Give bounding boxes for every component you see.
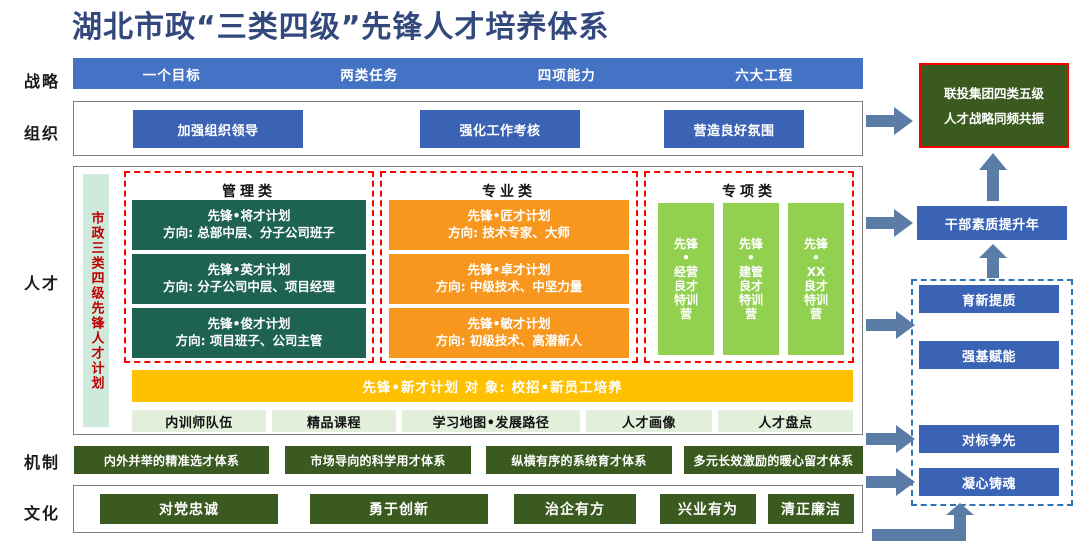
mechanism-item-0[interactable]: 内外并举的精准选才体系	[74, 446, 269, 474]
talent-plan-mincai[interactable]: 先锋•敏才计划 方向: 初级技术、高潜新人	[389, 308, 629, 358]
right-middle-box[interactable]: 干部素质提升年	[917, 206, 1067, 240]
organization-item-2[interactable]: 营造良好氛围	[664, 110, 804, 148]
row-label-strategy: 战略	[16, 68, 68, 92]
support-item-2[interactable]: 学习地图•发展路径	[402, 410, 580, 432]
organization-item-1[interactable]: 强化工作考核	[420, 110, 580, 148]
right-bottom-item-1[interactable]: 强基赋能	[919, 341, 1059, 369]
culture-item-1[interactable]: 勇于创新	[310, 494, 488, 524]
arrow-right-to-yuxintizhi	[866, 310, 916, 340]
culture-item-0[interactable]: 对党忠诚	[100, 494, 278, 524]
plan-name: 先锋•匠才计划	[468, 208, 551, 225]
arrow-right-to-ningxinzhuhun	[866, 467, 916, 497]
talent-group-special-title: 专项类	[644, 181, 854, 201]
mechanism-item-3[interactable]: 多元长效激励的暖心留才体系	[684, 446, 863, 474]
culture-item-2[interactable]: 治企有方	[514, 494, 636, 524]
arrow-up-bottom-to-middle	[978, 243, 1008, 279]
support-item-4[interactable]: 人才盘点	[718, 410, 853, 432]
mechanism-item-2[interactable]: 纵横有序的系统育才体系	[486, 446, 672, 474]
talent-group-professional-title: 专业类	[380, 181, 638, 201]
plan-name: 先锋•敏才计划	[468, 316, 551, 333]
arrow-up-culture-to-bottom-group	[872, 503, 1002, 543]
right-bottom-item-2[interactable]: 对标争先	[919, 425, 1059, 453]
talent-plan-jiangcai2[interactable]: 先锋•匠才计划 方向: 技术专家、大师	[389, 200, 629, 250]
strategy-item-2[interactable]: 四项能力	[468, 64, 666, 84]
new-talent-plan-bar[interactable]: 先锋•新才计划 对 象: 校招•新员工培养	[132, 370, 853, 402]
row-label-organization: 组织	[16, 120, 68, 144]
camp-label: 先锋 • XX 良才 特训 营	[788, 237, 844, 322]
arrow-up-middle-to-top	[978, 152, 1008, 202]
strategy-item-1[interactable]: 两类任务	[271, 64, 469, 84]
camp-label: 先锋 • 建管 良才 特训 营	[723, 237, 779, 322]
right-top-line2: 人才战略同频共振	[944, 106, 1044, 131]
plan-direction: 方向: 中级技术、中坚力量	[436, 279, 583, 296]
plan-direction: 方向: 项目班子、公司主管	[176, 333, 323, 350]
organization-item-0[interactable]: 加强组织领导	[133, 110, 303, 148]
talent-camp-jianguan[interactable]: 先锋 • 建管 良才 特训 营	[723, 203, 779, 355]
plan-direction: 方向: 分子公司中层、项目经理	[163, 279, 335, 296]
talent-plan-juncai[interactable]: 先锋•俊才计划 方向: 项目班子、公司主管	[132, 308, 366, 358]
mechanism-item-1[interactable]: 市场导向的科学用才体系	[285, 446, 471, 474]
support-item-3[interactable]: 人才画像	[586, 410, 712, 432]
row-label-talent: 人才	[16, 270, 68, 294]
strategy-bar: 一个目标 两类任务 四项能力 六大工程	[73, 58, 863, 89]
talent-plan-jiangcai[interactable]: 先锋•将才计划 方向: 总部中层、分子公司班子	[132, 200, 366, 250]
right-bottom-item-0[interactable]: 育新提质	[919, 285, 1059, 313]
right-bottom-item-3[interactable]: 凝心铸魂	[919, 468, 1059, 496]
arrow-right-to-middle-box	[866, 208, 914, 238]
row-label-mechanism: 机制	[16, 449, 68, 473]
page-title: 湖北市政“三类四级”先锋人才培养体系	[72, 8, 772, 48]
row-label-culture: 文化	[16, 500, 68, 524]
support-item-0[interactable]: 内训师队伍	[132, 410, 266, 432]
arrow-right-to-top-box	[866, 106, 914, 136]
plan-name: 先锋•英才计划	[208, 262, 291, 279]
plan-name: 先锋•卓才计划	[468, 262, 551, 279]
culture-item-4[interactable]: 清正廉洁	[768, 494, 854, 524]
plan-direction: 方向: 初级技术、高潜新人	[436, 333, 583, 350]
plan-direction: 方向: 总部中层、分子公司班子	[163, 225, 335, 242]
talent-camp-jingying[interactable]: 先锋 • 经营 良才 特训 营	[658, 203, 714, 355]
talent-plan-yingcai[interactable]: 先锋•英才计划 方向: 分子公司中层、项目经理	[132, 254, 366, 304]
strategy-item-3[interactable]: 六大工程	[666, 64, 864, 84]
talent-strip-label: 市政三类四级先锋人才计划	[83, 174, 109, 427]
talent-group-management-title: 管理类	[124, 181, 374, 201]
right-top-box[interactable]: 联投集团四类五级 人才战略同频共振	[919, 63, 1069, 148]
talent-camp-xx[interactable]: 先锋 • XX 良才 特训 营	[788, 203, 844, 355]
arrow-right-to-duibiaozhengxian	[866, 424, 916, 454]
right-top-line1: 联投集团四类五级	[944, 81, 1044, 106]
culture-item-3[interactable]: 兴业有为	[660, 494, 756, 524]
camp-label: 先锋 • 经营 良才 特训 营	[658, 237, 714, 322]
plan-name: 先锋•将才计划	[208, 208, 291, 225]
plan-direction: 方向: 技术专家、大师	[448, 225, 570, 242]
talent-plan-zhuocai[interactable]: 先锋•卓才计划 方向: 中级技术、中坚力量	[389, 254, 629, 304]
support-item-1[interactable]: 精品课程	[272, 410, 396, 432]
strategy-item-0[interactable]: 一个目标	[73, 64, 271, 84]
plan-name: 先锋•俊才计划	[208, 316, 291, 333]
